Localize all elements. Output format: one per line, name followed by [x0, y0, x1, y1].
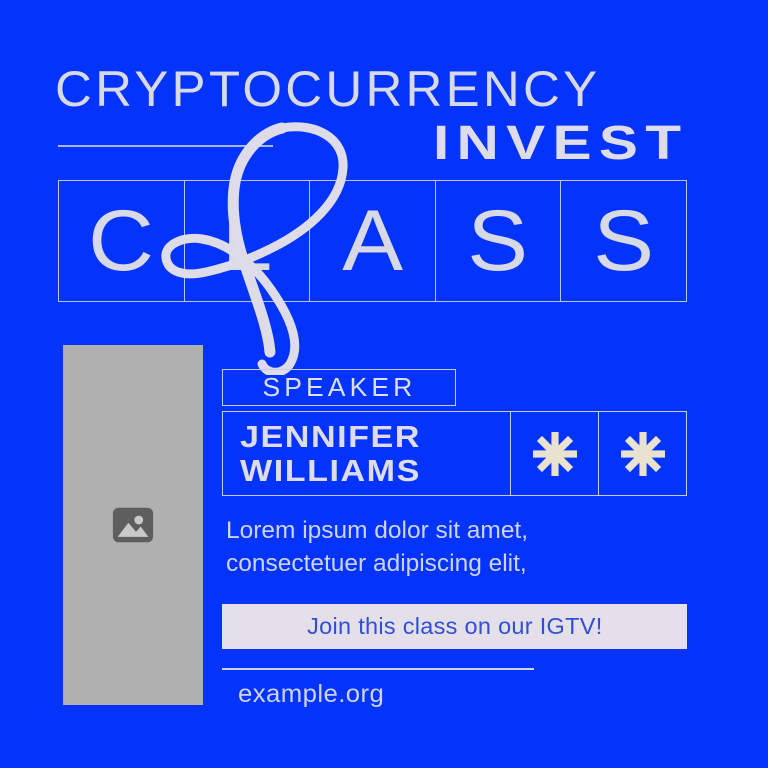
asterisk-star-icon — [531, 430, 579, 478]
speaker-name: JENNIFER WILLIAMS — [240, 420, 421, 488]
footer-website-url[interactable]: example.org — [238, 680, 384, 709]
asterisk-star-icon — [619, 430, 667, 478]
speaker-label: SPEAKER — [262, 372, 416, 403]
page-title: CRYPTOCURRENCY — [55, 62, 728, 116]
class-grid-cell: C — [58, 180, 185, 302]
star-cell — [598, 411, 687, 496]
body-description: Lorem ipsum dolor sit amet, consectetuer… — [226, 514, 705, 580]
cta-label: Join this class on our IGTV! — [307, 613, 602, 640]
class-grid-cell: A — [309, 180, 436, 302]
speaker-label-box: SPEAKER — [222, 369, 456, 406]
class-letter: A — [342, 198, 403, 284]
headline-subtitle: INVEST — [433, 118, 688, 170]
poster-canvas: CRYPTOCURRENCY INVEST C L A S S — [0, 0, 768, 768]
class-letter-grid: C L A S S — [58, 180, 687, 302]
class-grid-cell: L — [184, 180, 311, 302]
class-grid-cell: S — [435, 180, 562, 302]
class-letter: C — [88, 198, 154, 284]
class-letter: L — [222, 198, 273, 284]
speaker-name-box: JENNIFER WILLIAMS — [222, 411, 511, 496]
speaker-name-row: JENNIFER WILLIAMS — [222, 411, 687, 496]
image-placeholder-icon — [110, 502, 156, 548]
headline-divider — [58, 145, 273, 147]
star-cell — [510, 411, 599, 496]
footer-divider — [222, 668, 534, 670]
image-placeholder — [63, 345, 203, 705]
class-grid-cell: S — [560, 180, 687, 302]
class-letter: S — [468, 198, 529, 284]
class-letter: S — [593, 198, 654, 284]
cta-banner[interactable]: Join this class on our IGTV! — [222, 604, 687, 649]
